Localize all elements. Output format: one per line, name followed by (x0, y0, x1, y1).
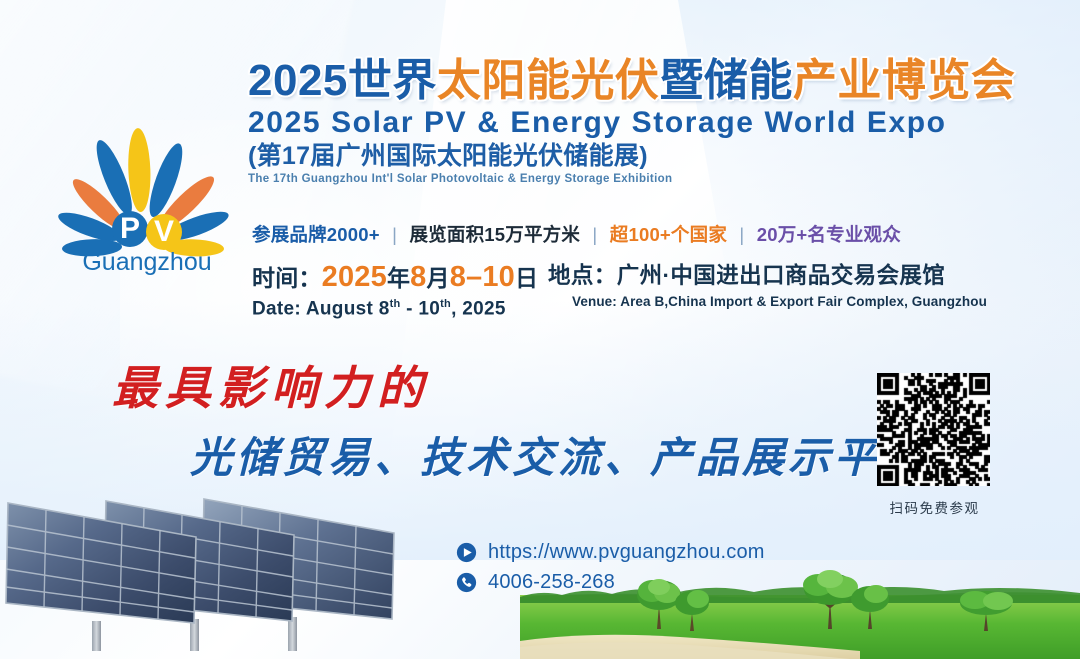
date-en-sup2: th (440, 298, 451, 310)
slogan-block: 最具影响力的 光储贸易、技术交流、产品展示平台! (0, 352, 880, 485)
date-days: 8–10 (450, 261, 515, 293)
venue-block: 地点：广州·中国进出口商品交易会展馆 Venue: Area B,China I… (548, 262, 987, 309)
date-month: 8 (410, 261, 426, 293)
date-line-cn: 时间：2025年8月8–10日 (252, 260, 538, 295)
stat-separator: | (585, 224, 604, 245)
title-part-4: 产业博览会 (793, 56, 1016, 105)
date-en-prefix: Date: August (252, 298, 379, 319)
website-row[interactable]: https://www.pvguangzhou.com (456, 541, 765, 564)
qr-code[interactable] (877, 373, 990, 486)
date-year: 2025 (322, 261, 387, 293)
stat-separator: | (732, 224, 751, 245)
subtitle-en: The 17th Guangzhou Int'l Solar Photovolt… (248, 173, 1048, 185)
title-part-3: 暨储能 (659, 56, 793, 105)
stat-visitors: 20万+名专业观众 (757, 224, 901, 245)
poster-header: 2025世界太阳能光伏暨储能产业博览会 2025 Solar PV & Ener… (248, 58, 1048, 185)
stat-brands: 参展品牌2000+ (252, 224, 380, 245)
stat-area: 展览面积15万平方米 (409, 224, 580, 245)
stat-countries: 超100+个国家 (610, 224, 727, 245)
slogan-line-1: 最具影响力的 (112, 352, 880, 418)
date-year-unit: 年 (387, 265, 410, 291)
title-part-2: 太阳能光伏 (437, 56, 660, 105)
date-month-unit: 月 (426, 265, 449, 291)
title-part-1: 2025世界 (248, 56, 437, 105)
svg-text:P: P (120, 212, 140, 245)
date-en-day1: 8 (379, 298, 390, 319)
date-en-sup1: th (390, 298, 401, 310)
date-en-dash: - (401, 298, 419, 319)
date-label: 时间： (252, 265, 322, 291)
pv-guangzhou-logo: P V Guangzhou (42, 96, 242, 281)
stats-strip: 参展品牌2000+ | 展览面积15万平方米 | 超100+个国家 | 20万+… (252, 221, 901, 247)
logo-pv-circles: P V (112, 211, 182, 250)
date-block: 时间：2025年8月8–10日 Date: August 8th - 10th,… (252, 260, 538, 320)
subtitle-cn: (第17届广州国际太阳能光伏储能展) (248, 142, 1048, 171)
solar-panel-array (0, 471, 474, 651)
landscape-trees (520, 567, 1080, 659)
date-en-year: , 2025 (451, 298, 506, 319)
date-en-day2: 10 (418, 298, 440, 319)
expo-poster: P V Guangzhou 2025世界太阳能光伏暨储能产业博览会 2025 S… (0, 0, 1080, 659)
date-day-unit: 日 (515, 265, 538, 291)
qr-caption: 扫码免费参观 (877, 497, 992, 517)
qr-block: 扫码免费参观 (877, 373, 992, 517)
main-title-cn: 2025世界太阳能光伏暨储能产业博览会 (248, 58, 1048, 105)
logo-city-label: Guangzhou (82, 248, 211, 276)
venue-line-cn: 地点：广州·中国进出口商品交易会展馆 (548, 262, 987, 289)
website-text[interactable]: https://www.pvguangzhou.com (488, 541, 765, 564)
venue-line-en: Venue: Area B,China Import & Export Fair… (572, 294, 987, 309)
venue-name-cn: 广州·中国进出口商品交易会展馆 (617, 263, 946, 288)
venue-label: 地点： (548, 263, 617, 288)
date-line-en: Date: August 8th - 10th, 2025 (252, 298, 538, 320)
main-title-en: 2025 Solar PV & Energy Storage World Exp… (248, 106, 1048, 140)
svg-text:V: V (154, 215, 174, 248)
stat-separator: | (385, 224, 404, 245)
